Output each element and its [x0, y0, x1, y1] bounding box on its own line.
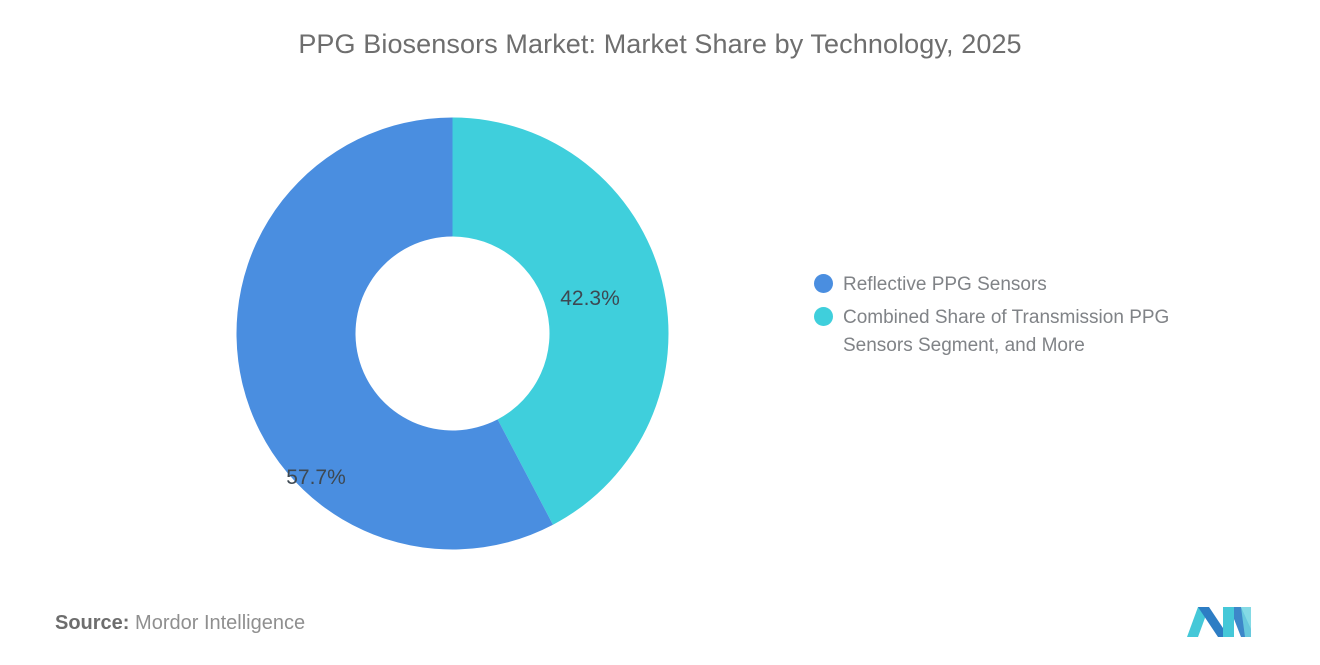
- chart-title: PPG Biosensors Market: Market Share by T…: [0, 29, 1320, 60]
- source-label: Source:: [55, 612, 129, 634]
- legend-item-label: Reflective PPG Sensors: [843, 271, 1047, 299]
- data-label-combined-share: 42.3%: [537, 287, 643, 311]
- source-value: Mordor Intelligence: [135, 612, 305, 634]
- legend-swatch-icon: [814, 274, 833, 293]
- legend-item-reflective-ppg-sensors[interactable]: Reflective PPG Sensors: [814, 271, 1254, 299]
- data-label-reflective-ppg-sensors: 57.7%: [263, 466, 369, 490]
- source-line: Source: Mordor Intelligence: [55, 612, 305, 635]
- donut-chart: 57.7% 42.3%: [236, 117, 669, 550]
- legend-item-combined-share[interactable]: Combined Share of Transmission PPG Senso…: [814, 304, 1254, 360]
- chart-card: PPG Biosensors Market: Market Share by T…: [0, 0, 1320, 665]
- legend-swatch-icon: [814, 307, 833, 326]
- legend-item-label: Combined Share of Transmission PPG Senso…: [843, 304, 1233, 360]
- chart-legend: Reflective PPG Sensors Combined Share of…: [814, 271, 1254, 365]
- mordor-intelligence-logo-icon: [1185, 599, 1253, 639]
